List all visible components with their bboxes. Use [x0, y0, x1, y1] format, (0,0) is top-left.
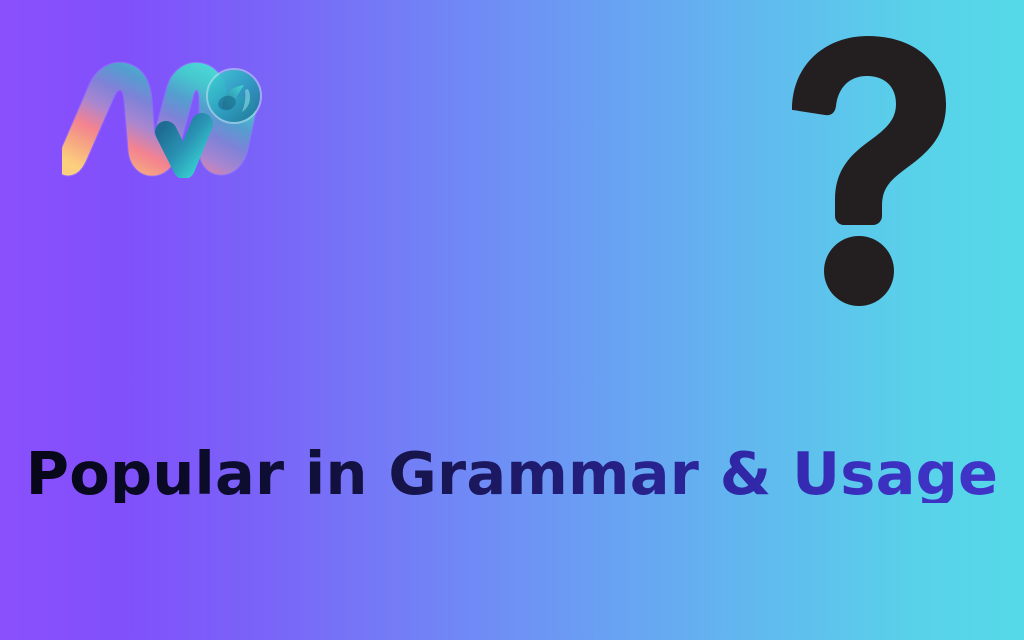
headline-container: Popular in Grammar & Usage: [0, 428, 1024, 518]
question-mark-icon: [776, 34, 956, 314]
question-mark-graphic: [776, 34, 956, 314]
wave-logo-icon: [62, 58, 272, 178]
page-title: Popular in Grammar & Usage: [26, 444, 998, 503]
logo-emblem-circle: [207, 69, 261, 123]
brand-logo[interactable]: [62, 58, 272, 178]
banner: Popular in Grammar & Usage: [0, 0, 1024, 640]
question-mark-hook: [792, 36, 946, 225]
question-mark-dot: [824, 236, 894, 306]
